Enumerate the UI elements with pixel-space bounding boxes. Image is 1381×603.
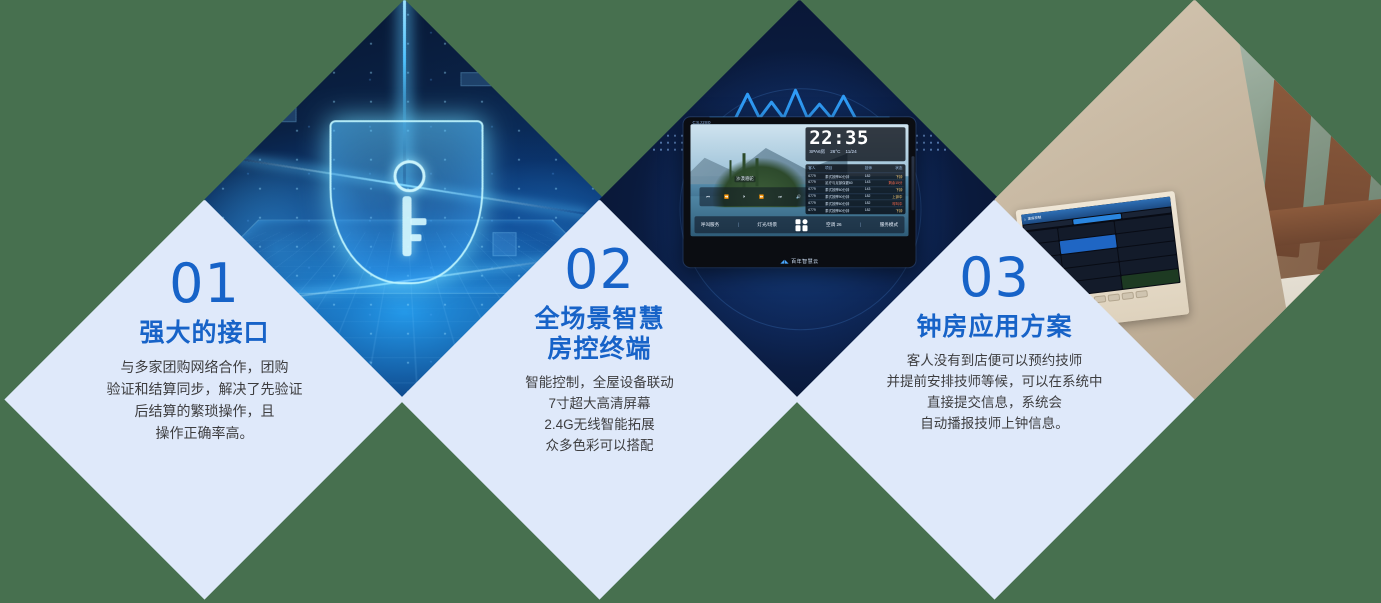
prev-icon[interactable]: ⏮ (706, 193, 710, 198)
panel-body-line: 智能控制，全屋设备联动 (435, 372, 765, 393)
temperature-label: 26°C (830, 149, 840, 155)
circuit-block (253, 103, 297, 121)
panel-title-line: 房控终端 (435, 334, 765, 364)
wallpaper-tree (756, 157, 759, 185)
panel-body: 智能控制，全屋设备联动 7寸超大高清屏幕 2.4G无线智能拓展 众多色彩可以搭配 (435, 372, 765, 456)
tablet-screen[interactable]: 22:35 SPA6房 26°C 11/24 客人 项目 技师 (691, 124, 909, 236)
cell-status: 下钟 (880, 207, 903, 212)
tablet-side-keys (912, 156, 915, 210)
table-row: 6779 泰式按摩90分钟 182 上钟中 (807, 192, 903, 199)
control-panel-title-text: 客房控制 (1027, 214, 1041, 221)
service-table: 客人 项目 技师 状态 6779 泰式按摩60分钟 182 下钟 (805, 164, 905, 213)
cell-tech: 182 (865, 194, 880, 199)
media-controls[interactable]: ⏮ ⏪ ⏵ ⏩ ⏭ 🔊 (699, 186, 808, 205)
cell-status: 剩余15分 (880, 180, 903, 185)
panel-body: 与多家团购网络合作，团购 验证和结算同步，解决了先验证 后结算的繁琐操作，且 操… (40, 356, 370, 444)
panel-title: 钟房应用方案 (830, 312, 1160, 342)
clock-widget: 22:35 SPA6房 26°C 11/24 (805, 126, 905, 160)
panel-body-line: 客人没有到店便可以预约技师 (830, 350, 1160, 371)
volume-icon[interactable]: 🔊 (796, 193, 801, 198)
panel-body-line: 2.4G无线智能拓展 (435, 414, 765, 435)
cell-guest: 6779 (808, 207, 825, 212)
col-item: 项目 (825, 166, 865, 171)
panel-body-line: 自动播报技师上钟信息。 (830, 413, 1160, 434)
circuit-block (461, 72, 519, 86)
cell-item: 泰式按摩60分钟 (825, 207, 865, 212)
panel-body-line: 直接提交信息，系统会 (830, 392, 1160, 413)
tablet-device: CSJ280 22:35 SPA6房 (684, 117, 916, 267)
date-label: 11/24 (846, 149, 857, 155)
table-row: 6779 泰式按摩60分钟 182 下钟 (807, 206, 903, 213)
cell-status: 下钟 (880, 173, 903, 178)
cell-guest: 6779 (808, 200, 825, 205)
cell-tech: 143 (865, 180, 880, 185)
wallpaper-tree (730, 159, 732, 183)
cell-status: 下钟 (880, 187, 903, 192)
cell-status: 呼叫中 (880, 200, 903, 205)
cell-tech: 143 (865, 187, 880, 192)
control-panel-list-right[interactable] (1115, 213, 1180, 288)
panel-body-line: 7寸超大高清屏幕 (435, 393, 765, 414)
dot-pattern-right (914, 132, 956, 154)
cell-guest: 6779 (808, 187, 825, 192)
cell-guest: 6779 (808, 194, 825, 199)
tablet-brand-bottom: ◢◣百年智慧云 (684, 258, 916, 265)
apps-grid-icon[interactable] (796, 218, 808, 230)
cell-guest: 6779 (808, 180, 825, 185)
cell-tech: 182 (865, 200, 880, 205)
panel-body-line: 验证和结算同步，解决了先验证 (40, 378, 370, 400)
bottom-button-service[interactable]: 服务模式 (880, 221, 898, 227)
media-title: 沙漠骆驼 (734, 175, 756, 181)
table-row: 6779 泰式按摩60分钟 182 呼叫中 (807, 199, 903, 206)
play-icon[interactable]: ⏵ (743, 193, 745, 198)
panel-body-line: 众多色彩可以搭配 (435, 435, 765, 456)
bottom-button-aircon[interactable]: 空调 26 (826, 221, 842, 227)
hw-key[interactable] (1107, 292, 1120, 300)
cell-item: 泰式按摩60分钟 (825, 173, 865, 178)
brand-mark-icon: ◢◣ (780, 259, 789, 265)
cell-item: 泰式按摩60分钟 (825, 200, 865, 205)
dot-pattern-left (644, 132, 686, 154)
col-status: 状态 (880, 166, 903, 171)
bottom-button-lighting[interactable]: 灯光/场景 (757, 221, 777, 227)
cell-tech: 182 (865, 207, 880, 212)
cell-guest: 6779 (808, 173, 825, 178)
cell-item: 足疗与足部保健60 (825, 180, 865, 185)
cell-item: 泰式按摩60分钟 (825, 187, 865, 192)
panel-body-line: 操作正确率高。 (39, 422, 369, 444)
brand-name: 百年智慧云 (791, 259, 819, 265)
col-tech: 技师 (865, 166, 880, 171)
panel-body-line: 后结算的繁琐操作，且 (39, 400, 369, 422)
home-icon: ⌂ (1023, 216, 1026, 220)
clock-meta: SPA6房 26°C 11/24 (809, 149, 901, 155)
table-header-row: 客人 项目 技师 状态 (807, 166, 903, 172)
separator: | (738, 222, 739, 227)
tablet-bottom-bar[interactable]: 呼叫服务 | 灯光/场景 空调 26 | 服务模式 (695, 216, 904, 233)
panel-body-line: 并提前安排技师等候，可以在系统中 (830, 371, 1160, 392)
separator: | (860, 222, 861, 227)
table-row: 6779 泰式按摩60分钟 182 下钟 (807, 172, 903, 179)
hw-key[interactable] (1135, 289, 1148, 297)
cell-status: 上钟中 (880, 194, 903, 199)
table-row: 6779 足疗与足部保健60 143 剩余15分 (807, 179, 903, 186)
table-row: 6779 泰式按摩60分钟 143 下钟 (807, 185, 903, 192)
panel-body: 客人没有到店便可以预约技师 并提前安排技师等候，可以在系统中 直接提交信息，系统… (830, 350, 1160, 434)
plant-leaf (1277, 342, 1322, 396)
cell-tech: 182 (865, 173, 880, 178)
key-icon (403, 195, 412, 255)
col-guest: 客人 (808, 166, 825, 171)
hw-key[interactable] (1121, 291, 1134, 299)
forward-icon[interactable]: ⏩ (759, 193, 764, 198)
bottom-button-call[interactable]: 呼叫服务 (701, 221, 719, 227)
diamond-feature-layout: CSJ280 22:35 SPA6房 (0, 0, 1381, 603)
room-label: SPA6房 (809, 149, 825, 155)
next-icon[interactable]: ⏭ (778, 193, 782, 198)
cell-item: 泰式按摩90分钟 (825, 194, 865, 199)
wood-slat (1317, 86, 1380, 274)
clock-time: 22:35 (809, 129, 901, 148)
rewind-icon[interactable]: ⏪ (724, 193, 729, 198)
panel-title: 强大的接口 (39, 318, 369, 348)
panel-body-line: 与多家团购网络合作，团购 (40, 356, 370, 378)
